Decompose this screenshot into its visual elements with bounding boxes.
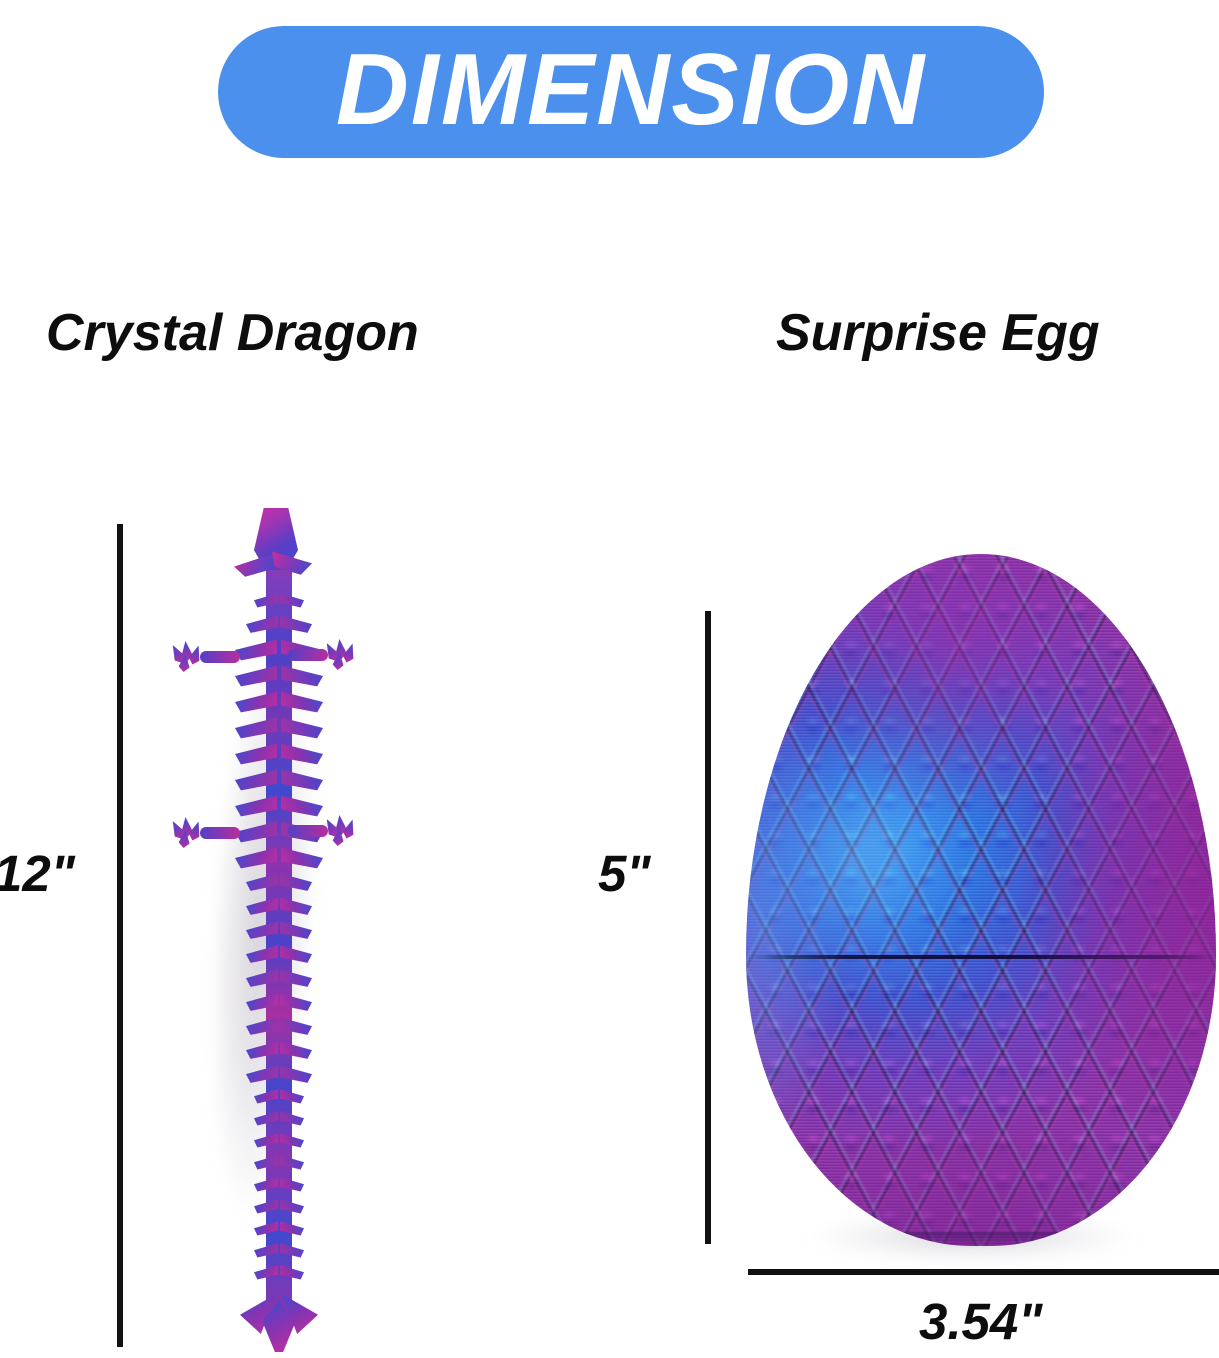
- dragon-spike-plate: [246, 968, 312, 994]
- dragon-claw: [172, 642, 202, 672]
- dragon-limb-arm: [288, 649, 328, 661]
- dragon-limb-arm: [200, 827, 240, 839]
- dragon-spike-plate: [246, 1040, 312, 1066]
- egg-height-rule: [705, 611, 711, 1244]
- header-pill-banner: DIMENSION: [218, 26, 1044, 158]
- egg-specular-sheen: [746, 651, 1028, 1080]
- egg-height-label: 5": [598, 848, 651, 899]
- product-image-crystal-dragon: [178, 500, 388, 1355]
- egg-scale-highlights: [746, 554, 1216, 1246]
- dragon-spike-plate: [246, 1016, 312, 1042]
- dragon-spike-plate: [246, 920, 312, 946]
- dragon-spike-plate: [246, 872, 312, 898]
- dragon-tail-tip: [240, 1290, 318, 1352]
- dragon-spike-plate: [235, 846, 323, 872]
- dragon-foreleg-right: [288, 640, 350, 670]
- dragon-claw: [172, 818, 202, 848]
- dragon-spike-plate: [246, 614, 312, 640]
- dragon-claw: [326, 640, 356, 670]
- egg-print-layer-lines: [746, 554, 1216, 1246]
- dragon-height-label: 12": [0, 848, 75, 899]
- dragon-height-rule: [117, 524, 123, 1347]
- page-title: DIMENSION: [336, 40, 926, 141]
- product-image-surprise-egg: [742, 548, 1219, 1260]
- dragon-spike-plate: [254, 1264, 304, 1290]
- dragon-claw: [326, 816, 356, 846]
- dragon-head: [238, 508, 312, 594]
- dragon-limb-arm: [288, 825, 328, 837]
- egg-body: [746, 554, 1216, 1246]
- dragon-spike-plate: [235, 742, 323, 768]
- dragon-spike-plate: [246, 944, 312, 970]
- egg-width-rule: [748, 1269, 1219, 1275]
- dragon-spike-plate: [235, 690, 323, 716]
- product-caption-crystal-dragon: Crystal Dragon: [46, 307, 419, 359]
- dragon-hindleg-left: [178, 818, 240, 848]
- egg-opening-seam: [746, 955, 1216, 959]
- dimension-infographic: DIMENSION Crystal Dragon Surprise Egg 12…: [0, 0, 1219, 1358]
- dragon-spike-plate: [246, 1064, 312, 1090]
- dragon-spike-plate: [246, 896, 312, 922]
- dragon-spike-plate: [235, 716, 323, 742]
- dragon-limb-arm: [200, 651, 240, 663]
- egg-scale-lattice: [746, 554, 1216, 1246]
- dragon-hindleg-right: [288, 816, 350, 846]
- dragon-foreleg-left: [178, 642, 240, 672]
- dragon-spike-plate: [235, 768, 323, 794]
- product-caption-surprise-egg: Surprise Egg: [776, 307, 1100, 359]
- dragon-spike-plate: [246, 992, 312, 1018]
- egg-width-label: 3.54": [919, 1296, 1042, 1347]
